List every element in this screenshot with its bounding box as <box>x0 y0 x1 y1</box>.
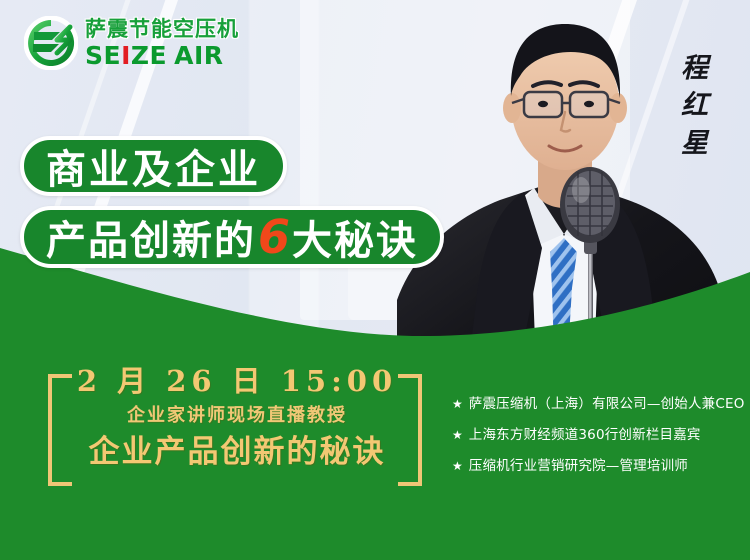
headline-banner-line2: 产品创新的 6 大秘诀 <box>20 206 444 268</box>
event-info-block: 2 月 26 日 15:00 企业家讲师现场直播教授 企业产品创新的秘诀 <box>62 366 412 470</box>
credential-text: 上海东方财经频道360行创新栏目嘉宾 <box>469 427 701 444</box>
brand-name-en: SEIZEAIR <box>85 43 239 68</box>
brand-en-part2: ZE <box>131 43 167 68</box>
credential-text: 萨震压缩机（上海）有限公司—创始人兼CEO <box>469 396 745 413</box>
brand-en-letter-i: I <box>121 43 131 68</box>
brand-name-cn: 萨震节能空压机 <box>85 19 239 40</box>
credential-text: 压缩机行业营销研究院—管理培训师 <box>469 458 688 475</box>
headline-line1-text: 商业及企业 <box>46 137 261 195</box>
list-item: ★ 压缩机行业营销研究院—管理培训师 <box>452 458 737 475</box>
headline-line2-suffix: 大秘诀 <box>292 208 418 266</box>
speaker-name-vertical: 程 红 星 <box>681 50 708 162</box>
credentials-list: ★ 萨震压缩机（上海）有限公司—创始人兼CEO ★ 上海东方财经频道360行创新… <box>452 396 737 489</box>
star-icon: ★ <box>452 427 463 443</box>
list-item: ★ 上海东方财经频道360行创新栏目嘉宾 <box>452 427 737 444</box>
speaker-name-char-3: 星 <box>681 125 708 162</box>
sz-circle-logo-icon <box>24 16 78 70</box>
event-topic: 企业产品创新的秘诀 <box>62 435 412 469</box>
star-icon: ★ <box>452 396 463 412</box>
event-date-time: 2 月 26 日 15:00 <box>62 366 412 398</box>
headline-number-six: 6 <box>256 210 292 264</box>
brand-logo[interactable]: 萨震节能空压机 SEIZEAIR <box>24 16 239 70</box>
headline-banner-line1: 商业及企业 <box>20 136 287 196</box>
headline-line2-prefix: 产品创新的 <box>46 208 256 266</box>
star-icon: ★ <box>452 458 463 474</box>
speaker-name-char-1: 程 <box>681 50 708 87</box>
brand-en-part3: AIR <box>174 43 223 68</box>
poster-canvas: 萨震节能空压机 SEIZEAIR 商业及企业 产品创新的 6 大秘诀 程 红 星… <box>0 0 750 560</box>
list-item: ★ 萨震压缩机（上海）有限公司—创始人兼CEO <box>452 396 737 413</box>
brand-en-part1: SE <box>85 43 121 68</box>
event-subtitle: 企业家讲师现场直播教授 <box>62 405 412 427</box>
speaker-name-char-2: 红 <box>681 87 708 124</box>
